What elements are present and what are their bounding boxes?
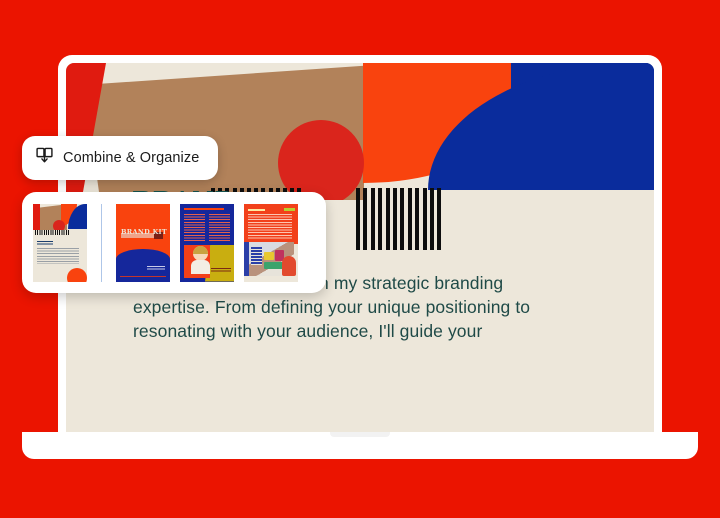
- barcode-bar: [378, 188, 382, 250]
- barcode-bar: [371, 188, 375, 250]
- barcode-bar: [356, 188, 360, 250]
- thumb-body-lines: [37, 248, 79, 264]
- thumb-heading-lines: [37, 241, 53, 245]
- thumb-rule-line: [120, 276, 166, 277]
- thumb-heading-bar: [248, 209, 265, 211]
- thumb-column-right: [209, 214, 230, 241]
- barcode-bar: [423, 188, 427, 250]
- barcode-bar: [430, 188, 434, 250]
- thumbnail-brand-cover-page[interactable]: [33, 204, 87, 282]
- barcode-bar: [386, 188, 390, 250]
- barcode-bar: [400, 188, 404, 250]
- thumb-green-accent: [284, 208, 295, 211]
- thumbnail-divider: [101, 204, 102, 282]
- barcode-stripes-right: [356, 188, 445, 250]
- thumbnail-color-palette-page[interactable]: [244, 204, 298, 282]
- thumb-portrait-photo: [184, 245, 210, 278]
- thumb-swatch-strip: [251, 247, 262, 265]
- barcode-bar: [415, 188, 419, 250]
- thumb-barcode: [35, 230, 69, 235]
- thumb-footer-lines: [147, 266, 165, 271]
- combine-organize-label: Combine & Organize: [63, 150, 199, 166]
- thumb-portrait-torso: [191, 260, 210, 274]
- laptop-mockup: BRAND STRATEGY Enhance your brand with m…: [0, 0, 720, 518]
- thumb-hand-shape: [282, 256, 296, 276]
- laptop-base-notch: [330, 432, 390, 437]
- thumb-blue-edge: [244, 242, 249, 276]
- thumb-orange-dot: [67, 268, 87, 282]
- thumbnail-brand-kit-page[interactable]: BRAND KIT: [116, 204, 170, 282]
- thumb-portrait-hair: [193, 246, 208, 254]
- thumb-caption-lines: [211, 268, 231, 272]
- combine-organize-tooltip[interactable]: Combine & Organize: [22, 136, 218, 180]
- barcode-bar: [363, 188, 367, 250]
- thumb-red-shape: [33, 204, 40, 230]
- thumb-brand-kit-label: BRAND KIT: [121, 228, 165, 236]
- thumb-column-left: [184, 214, 205, 241]
- barcode-bar: [408, 188, 412, 250]
- combine-documents-icon: [35, 146, 54, 170]
- thumb-swatch-yellow: [264, 252, 274, 260]
- thumb-text-lines: [248, 214, 292, 239]
- thumbnail-panel[interactable]: BRAND KIT: [22, 192, 326, 293]
- thumb-title-bar: [184, 208, 224, 210]
- barcode-bar: [393, 188, 397, 250]
- barcode-bar: [437, 188, 441, 250]
- thumbnail-brand-introduction-page[interactable]: [180, 204, 234, 282]
